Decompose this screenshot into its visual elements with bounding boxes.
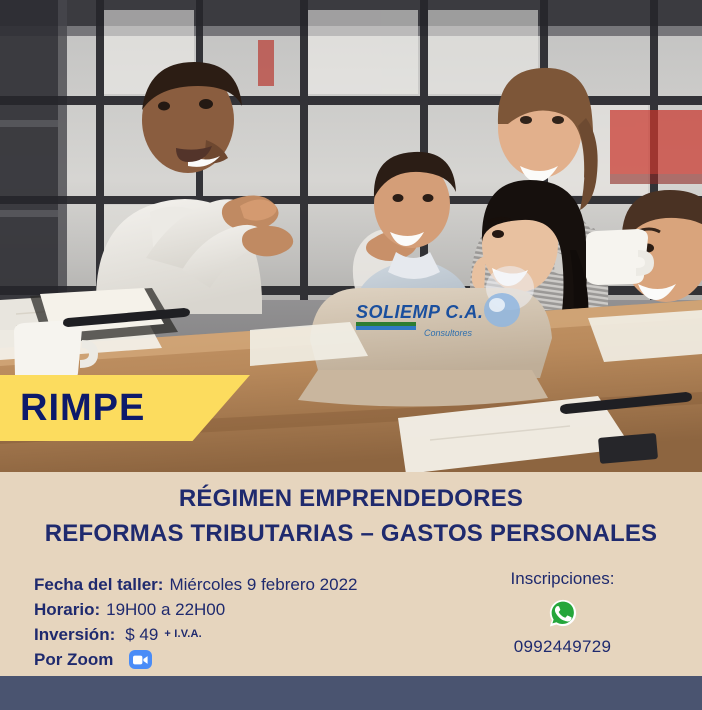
detail-label-inversion: Inversión:: [34, 622, 115, 647]
workshop-details: Fecha del taller: Miércoles 9 febrero 20…: [34, 572, 454, 672]
title-block: RÉGIMEN EMPRENDEDORES REFORMAS TRIBUTARI…: [0, 472, 702, 552]
signup-block: Inscripciones: 0992449729: [455, 568, 670, 657]
detail-label-fecha: Fecha del taller:: [34, 572, 163, 597]
detail-label-horario: Horario:: [34, 597, 100, 622]
detail-label-por-zoom: Por Zoom: [34, 647, 113, 672]
signup-title: Inscripciones:: [455, 568, 670, 590]
detail-row-horario: Horario: 19H00 a 22H00: [34, 597, 454, 622]
bottom-bar: [0, 676, 702, 710]
rimpe-banner-label: RIMPE: [20, 389, 145, 427]
svg-text:Consultores: Consultores: [424, 328, 473, 338]
detail-value-fecha: Miércoles 9 febrero 2022: [169, 572, 357, 597]
detail-row-modalidad: Por Zoom: [34, 647, 454, 672]
detail-value-horario: 19H00 a 22H00: [106, 597, 225, 622]
svg-text:SOLIEMP C.A.: SOLIEMP C.A.: [356, 302, 483, 322]
signup-phone-number[interactable]: 0992449729: [455, 637, 670, 657]
zoom-video-icon: [129, 650, 152, 669]
poster: SOLIEMP C.A. Consultores: [0, 0, 702, 710]
detail-row-inversion: Inversión: $ 49 + I.V.A.: [34, 622, 454, 647]
detail-value-inversion: $ 49: [125, 622, 158, 647]
detail-row-fecha: Fecha del taller: Miércoles 9 febrero 20…: [34, 572, 454, 597]
page-title-line-2: REFORMAS TRIBUTARIAS – GASTOS PERSONALES: [0, 516, 702, 552]
content-section: RÉGIMEN EMPRENDEDORES REFORMAS TRIBUTARI…: [0, 472, 702, 676]
detail-note-iva: + I.V.A.: [164, 622, 202, 647]
whatsapp-icon[interactable]: [455, 596, 670, 630]
page-title-line-1: RÉGIMEN EMPRENDEDORES: [0, 482, 702, 516]
